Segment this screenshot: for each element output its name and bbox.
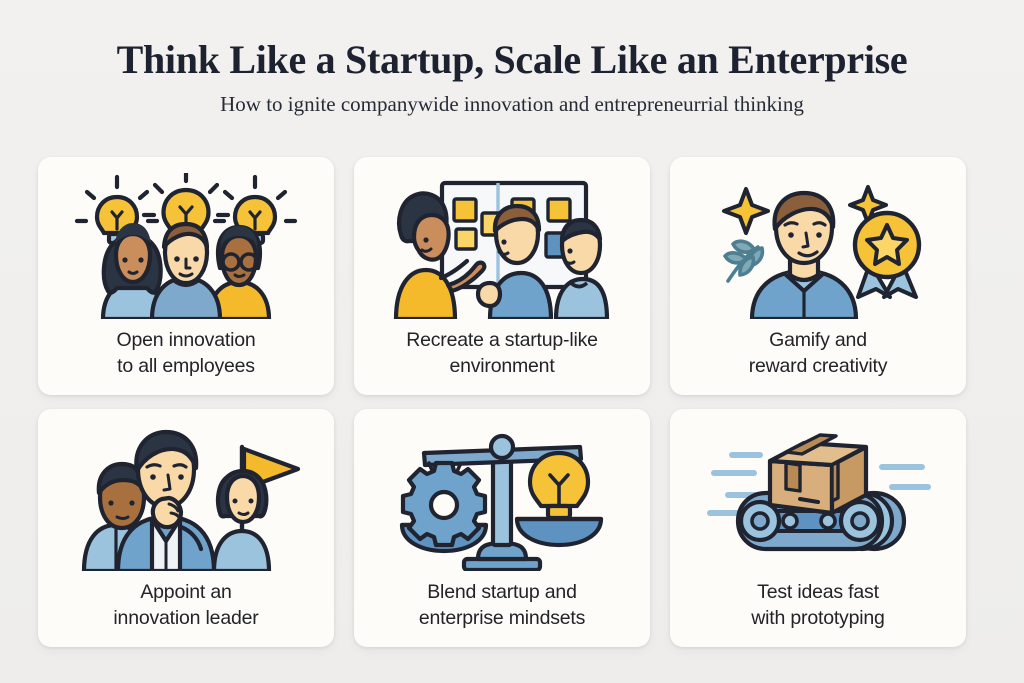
card-label: Blend startup and enterprise mindsets — [419, 579, 585, 632]
card-recreate-startup-environment[interactable]: Recreate a startup-like environment — [354, 157, 650, 395]
page-subtitle: How to ignite companywide innovation and… — [0, 92, 1024, 117]
card-appoint-innovation-leader[interactable]: Appoint an innovation leader — [38, 409, 334, 647]
card-label-line2: environment — [449, 355, 554, 377]
card-open-innovation[interactable]: Open innovation to all employees — [38, 157, 334, 395]
card-grid: Open innovation to all employees — [38, 157, 986, 647]
card-label-line1: Gamify and — [769, 329, 867, 351]
page-title: Think Like a Startup, Scale Like an Ente… — [0, 38, 1024, 83]
card-label-line1: Blend startup and — [427, 581, 576, 603]
card-label: Gamify and reward creativity — [749, 327, 888, 380]
card-test-ideas-prototyping[interactable]: Test ideas fast with prototyping — [670, 409, 966, 647]
leader-with-flag-and-team-icon — [66, 423, 306, 573]
card-label: Appoint an innovation leader — [113, 579, 258, 632]
card-label-line1: Test ideas fast — [757, 581, 879, 603]
card-label: Open innovation to all employees — [116, 327, 255, 380]
card-label-line1: Appoint an — [140, 581, 231, 603]
card-gamify-reward-creativity[interactable]: Gamify and reward creativity — [670, 157, 966, 395]
card-label-line2: reward creativity — [749, 355, 888, 377]
person-with-award-medal-icon — [698, 171, 938, 321]
box-on-conveyor-belt-icon — [698, 423, 938, 573]
card-label-line2: to all employees — [117, 355, 255, 377]
whiteboard-sticky-notes-team-icon — [382, 171, 622, 321]
balance-scale-gear-lightbulb-icon — [382, 423, 622, 573]
card-label-line1: Recreate a startup-like — [406, 329, 598, 351]
three-people-with-lightbulbs-icon — [66, 171, 306, 321]
card-blend-startup-enterprise-mindsets[interactable]: Blend startup and enterprise mindsets — [354, 409, 650, 647]
card-label: Recreate a startup-like environment — [406, 327, 598, 380]
header: Think Like a Startup, Scale Like an Ente… — [0, 0, 1024, 117]
card-label-line1: Open innovation — [116, 329, 255, 351]
card-label-line2: enterprise mindsets — [419, 607, 585, 629]
infographic-page: Think Like a Startup, Scale Like an Ente… — [0, 0, 1024, 683]
card-label: Test ideas fast with prototyping — [751, 579, 884, 632]
card-label-line2: with prototyping — [751, 607, 884, 629]
card-label-line2: innovation leader — [113, 607, 258, 629]
